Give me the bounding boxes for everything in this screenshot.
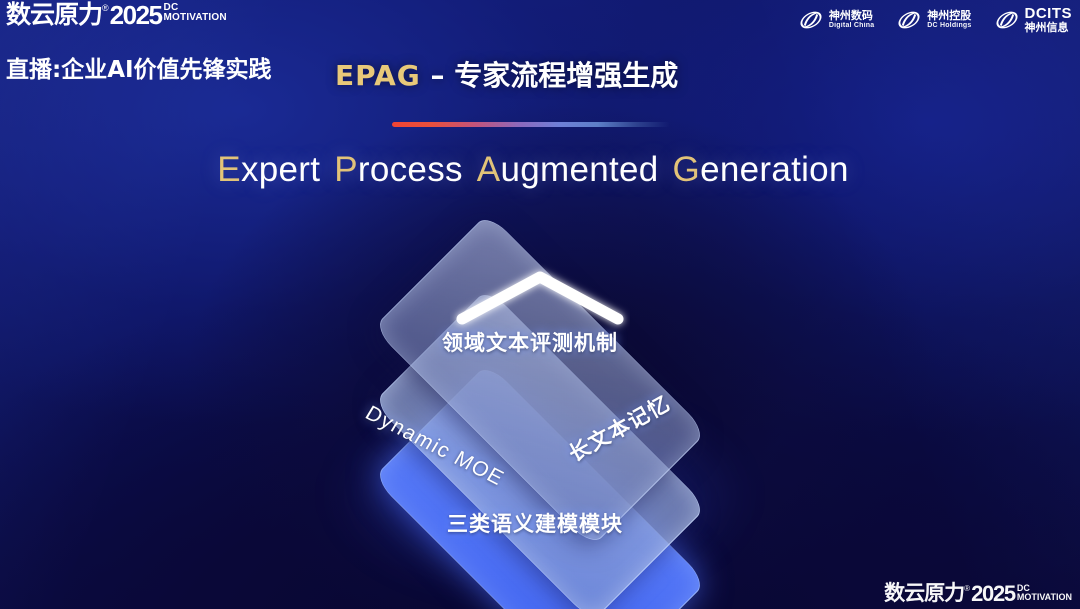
- partner-name-en: DC Holdings: [927, 22, 971, 29]
- page-title-chinese: – 专家流程增强生成: [430, 59, 678, 92]
- watermark-year: 2025: [971, 583, 1015, 605]
- acronym-word-rest: ugmented: [500, 150, 658, 189]
- watermark-logo: 数云原力 ® 2025 DC MOTIVATION: [884, 583, 1072, 605]
- partner-logo-digital-china: 神州数码 Digital China: [798, 7, 874, 33]
- acronym-expansion: ExpertProcessAugmentedGeneration: [0, 150, 1080, 190]
- acronym-word-rest: xpert: [241, 150, 320, 189]
- acronym-word-rest: eneration: [700, 150, 849, 189]
- slide-canvas: 数云原力 ® 2025 DC MOTIVATION 直播:企业AI价值先锋实践 …: [0, 0, 1080, 609]
- live-session-title: 直播:企业AI价值先锋实践: [6, 50, 272, 84]
- partner-logo-group: 神州数码 Digital China 神州控股 DC Holdings: [798, 6, 1072, 33]
- watermark-registered-mark: ®: [964, 585, 970, 593]
- watermark-cn: 数云原力: [884, 583, 964, 604]
- swoosh-icon: [896, 7, 922, 33]
- partner-name-cn: 神州信息: [1025, 22, 1073, 34]
- brand-logo-dc-motivation: DC MOTIVATION: [164, 3, 227, 22]
- acronym-word-generation: Generation: [673, 150, 849, 189]
- gradient-divider: [392, 122, 670, 127]
- brand-logo-cn: 数云原力: [6, 2, 102, 27]
- acronym-word-augmented: Augmented: [477, 150, 659, 189]
- diagram-layer-top: [385, 225, 695, 535]
- partner-logo-dc-holdings: 神州控股 DC Holdings: [896, 7, 971, 33]
- watermark-motivation: MOTIVATION: [1017, 593, 1072, 602]
- swoosh-icon: [994, 7, 1020, 33]
- page-title-acronym: EPAG: [335, 59, 421, 92]
- acronym-initial: A: [477, 150, 501, 189]
- acronym-initial: G: [673, 150, 701, 189]
- brand-logo: 数云原力 ® 2025 DC MOTIVATION: [6, 2, 227, 28]
- watermark-dc-motivation: DC MOTIVATION: [1017, 584, 1072, 601]
- page-title: EPAG – 专家流程增强生成: [335, 54, 678, 94]
- diagram-layer-top-face: [373, 213, 707, 547]
- acronym-initial: E: [217, 150, 241, 189]
- acronym-word-expert: Expert: [217, 150, 320, 189]
- acronym-word-process: Process: [334, 150, 463, 189]
- partner-name-cn: 神州数码: [829, 10, 874, 22]
- partner-logo-text: 神州数码 Digital China: [829, 10, 874, 29]
- layered-architecture-diagram: 领域文本评测机制 Dynamic MOE 长文本记忆 三类语义建模模块: [295, 225, 785, 570]
- acronym-word-rest: rocess: [358, 150, 463, 189]
- partner-logo-dcits: DCITS 神州信息: [994, 6, 1073, 33]
- brand-logo-registered-mark: ®: [102, 4, 109, 13]
- brand-logo-year: 2025: [110, 2, 162, 28]
- partner-name-cn: 神州控股: [927, 10, 971, 22]
- partner-name-en: Digital China: [829, 22, 874, 29]
- partner-logo-text: DCITS 神州信息: [1025, 6, 1073, 33]
- partner-name-en: DCITS: [1025, 6, 1073, 22]
- partner-logo-text: 神州控股 DC Holdings: [927, 10, 971, 29]
- brand-logo-motivation: MOTIVATION: [164, 13, 227, 23]
- swoosh-icon: [798, 7, 824, 33]
- acronym-initial: P: [334, 150, 358, 189]
